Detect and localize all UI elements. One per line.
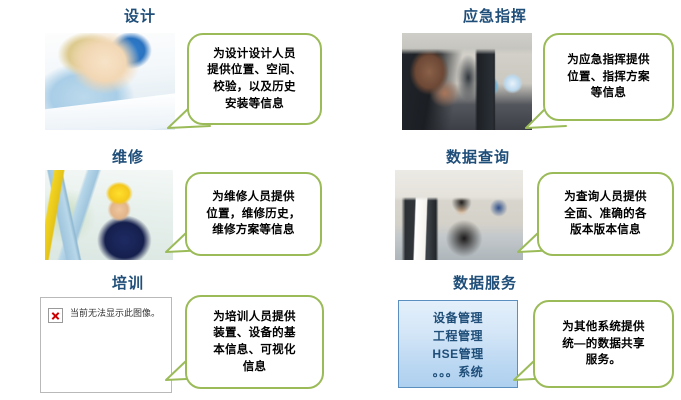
callout-design: 为设计设计人员 提供位置、空间、 校验，以及历史 安装等信息	[187, 33, 322, 125]
section-title-emergency-command: 应急指挥	[463, 5, 527, 26]
photo-maintenance	[45, 170, 173, 260]
section-title-design: 设计	[124, 5, 156, 26]
photo-design	[45, 33, 175, 130]
diagram-canvas: 设计 为设计设计人员 提供位置、空间、 校验，以及历史 安装等信息 应急指挥 为…	[0, 0, 681, 400]
photo-design-image	[45, 33, 175, 130]
callout-data-query-text: 为查询人员提供 全面、准确的各 版本版本信息	[564, 189, 647, 239]
callout-emergency-command-text: 为应急指挥提供 位置、指挥方案 等信息	[567, 52, 650, 102]
service-line-hse: HSE管理	[432, 345, 483, 362]
service-line-equipment: 设备管理	[433, 309, 483, 326]
photo-data-query-image	[395, 170, 523, 260]
section-title-data-service: 数据服务	[453, 272, 517, 293]
callout-training-text: 为培训人员提供 装置、设备的基 本信息、可视化 信息	[213, 309, 296, 376]
callout-emergency-command: 为应急指挥提供 位置、指挥方案 等信息	[543, 33, 674, 121]
callout-maintenance-text: 为维修人员提供 位置，维修历史， 维修方案等信息	[206, 189, 300, 239]
photo-emergency-command	[402, 33, 532, 130]
callout-data-service: 为其他系统提供 统—的数据共享 服务。	[533, 300, 674, 388]
section-title-training: 培训	[112, 272, 144, 293]
callout-maintenance: 为维修人员提供 位置，维修历史， 维修方案等信息	[185, 172, 322, 256]
service-line-others: 。。。系统	[433, 363, 484, 380]
callout-data-query: 为查询人员提供 全面、准确的各 版本版本信息	[537, 172, 674, 256]
callout-data-service-text: 为其他系统提供 统—的数据共享 服务。	[562, 319, 645, 369]
broken-image-placeholder-training: 当前无法显示此图像。	[40, 297, 172, 393]
callout-training: 为培训人员提供 装置、设备的基 本信息、可视化 信息	[185, 295, 324, 389]
photo-maintenance-image	[45, 170, 173, 260]
section-title-maintenance: 维修	[112, 146, 144, 167]
photo-emergency-command-image	[402, 33, 532, 130]
section-title-data-query: 数据查询	[446, 146, 510, 167]
service-list-box: 设备管理 工程管理 HSE管理 。。。系统	[398, 300, 518, 388]
service-line-engineering: 工程管理	[433, 327, 483, 344]
broken-image-icon	[48, 308, 63, 323]
broken-image-row: 当前无法显示此图像。	[41, 298, 171, 323]
broken-image-message: 当前无法显示此图像。	[70, 308, 160, 320]
callout-design-text: 为设计设计人员 提供位置、空间、 校验，以及历史 安装等信息	[207, 46, 301, 113]
photo-data-query	[395, 170, 523, 260]
